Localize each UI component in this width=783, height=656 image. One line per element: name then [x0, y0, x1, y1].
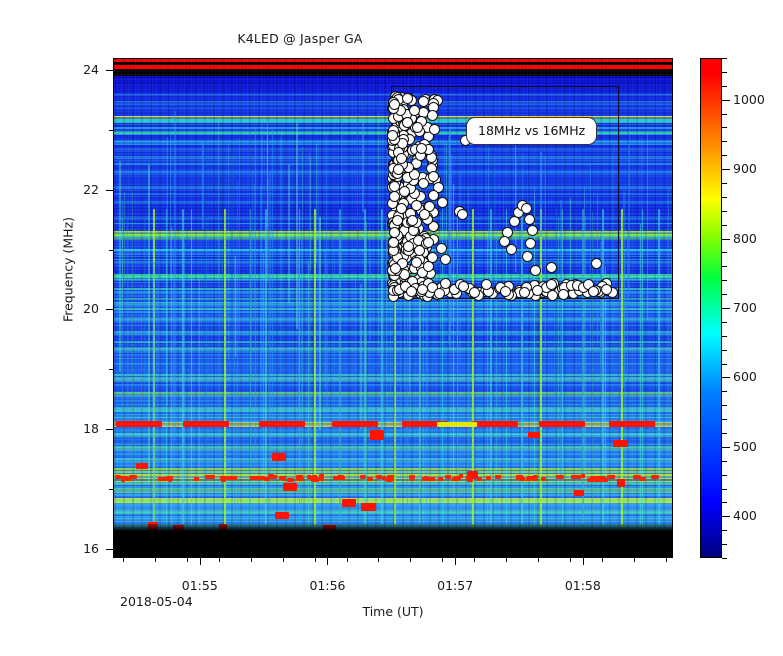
colorbar-tick-label: 900 [733, 161, 757, 176]
colorbar-minor-tick [722, 419, 727, 420]
x-axis-minor-tick [634, 558, 635, 562]
colorbar-minor-tick [722, 530, 727, 531]
signal-blob [454, 476, 461, 480]
signal-blob [607, 475, 615, 479]
signal-blob [129, 475, 137, 479]
x-axis-tick [327, 558, 328, 565]
colorbar-minor-tick [722, 100, 727, 101]
signal-blob [360, 475, 366, 479]
scatter-point [389, 181, 400, 192]
scatter-point [411, 257, 422, 268]
signal-blob [259, 421, 305, 427]
signal-blob [438, 477, 443, 481]
signal-blob [370, 430, 384, 439]
signal-blob [466, 476, 470, 480]
x-axis-minor-tick [187, 558, 188, 562]
signal-blob [166, 476, 174, 480]
signal-blob [486, 476, 491, 480]
signal-blob [528, 476, 533, 480]
x-axis-tick-label: 01:56 [292, 578, 362, 593]
y-axis-tick-label: 16 [65, 541, 99, 556]
scatter-point [428, 171, 439, 182]
colorbar-minor-tick [722, 336, 727, 337]
colorbar-minor-tick [722, 489, 727, 490]
signal-blob [588, 478, 593, 482]
scatter-point [419, 209, 430, 220]
scatter-point [506, 244, 517, 255]
signal-blob [576, 475, 581, 479]
y-axis-tick-label: 18 [65, 421, 99, 436]
scatter-point [532, 285, 543, 296]
signal-blob [495, 475, 501, 479]
scatter-point [524, 214, 535, 225]
signal-blob [409, 475, 415, 479]
signal-blob [296, 475, 304, 479]
y-axis-tick [106, 190, 113, 191]
signal-blob [339, 476, 345, 480]
signal-blob [283, 483, 297, 492]
scatter-point [393, 164, 404, 175]
colorbar-minor-tick [722, 405, 727, 406]
signal-blob [342, 499, 356, 507]
signal-blob [609, 421, 655, 427]
signal-blob [210, 475, 215, 479]
signal-blob [317, 477, 324, 481]
y-axis-tick [106, 429, 113, 430]
colorbar-minor-tick [722, 141, 727, 142]
signal-blob [520, 477, 525, 481]
x-axis-minor-tick [283, 558, 284, 562]
y-axis-tick [106, 309, 113, 310]
colorbar-minor-tick [722, 239, 727, 240]
y-axis-tick [106, 70, 113, 71]
colorbar-minor-tick [722, 114, 727, 115]
scatter-point [418, 178, 429, 189]
x-axis-tick [455, 558, 456, 565]
scatter-point [392, 215, 403, 226]
scatter-point [396, 203, 407, 214]
signal-blob [114, 65, 673, 69]
x-axis-minor-tick [378, 558, 379, 562]
colorbar-tick-label: 500 [733, 439, 757, 454]
y-axis-tick-label: 24 [65, 62, 99, 77]
colorbar-minor-tick [722, 72, 727, 73]
signal-blob [617, 479, 625, 487]
colorbar-tick-label: 800 [733, 231, 757, 246]
signal-blob [387, 475, 393, 479]
scatter-point [406, 286, 417, 297]
signal-blob [183, 421, 229, 427]
scatter-point [402, 93, 413, 104]
colorbar-minor-tick [722, 197, 727, 198]
lower-cutoff-band [114, 524, 672, 557]
colorbar-minor-tick [722, 225, 727, 226]
colorbar-minor-tick [722, 86, 727, 87]
scatter-point [546, 279, 557, 290]
signal-blob [437, 422, 477, 427]
x-axis-minor-tick [251, 558, 252, 562]
signal-blob [422, 477, 428, 481]
x-axis-minor-tick [442, 558, 443, 562]
y-axis-minor-tick [109, 369, 113, 370]
signal-blob [382, 476, 387, 480]
colorbar-tick-label: 400 [733, 508, 757, 523]
scatter-point [418, 96, 429, 107]
colorbar-tick-label: 1000 [733, 92, 765, 107]
colorbar-tick-label: 600 [733, 369, 757, 384]
colorbar-minor-tick [722, 391, 727, 392]
colorbar-minor-tick [722, 502, 727, 503]
signal-blob [264, 477, 270, 481]
signal-blob [116, 421, 162, 427]
colorbar-minor-tick [722, 447, 727, 448]
x-axis-minor-tick [602, 558, 603, 562]
x-axis-minor-tick [123, 558, 124, 562]
x-axis-minor-tick [219, 558, 220, 562]
scatter-point [437, 197, 448, 208]
scatter-point [440, 254, 451, 265]
signal-blob [539, 421, 585, 427]
scatter-point [388, 237, 399, 248]
signal-blob [361, 503, 376, 511]
scatter-point [457, 209, 468, 220]
colorbar-minor-tick [722, 461, 727, 462]
scatter-point [409, 105, 420, 116]
signal-blob [532, 476, 537, 480]
colorbar-minor-tick [722, 169, 727, 170]
page-title: K4LED @ Jasper GA [0, 31, 600, 46]
signal-blob [233, 476, 238, 480]
scatter-point [522, 251, 533, 262]
y-axis-minor-tick [109, 130, 113, 131]
colorbar-minor-tick [722, 294, 727, 295]
y-axis-tick-label: 22 [65, 182, 99, 197]
colorbar-minor-tick [722, 183, 727, 184]
colorbar-minor-tick [722, 364, 727, 365]
signal-blob [602, 478, 608, 482]
signal-blob [272, 453, 285, 461]
scatter-point [458, 281, 469, 292]
x-axis-minor-tick [570, 558, 571, 562]
signal-blob [556, 475, 564, 479]
signal-blob [194, 477, 198, 481]
colorbar-minor-tick [722, 322, 727, 323]
signal-blob [651, 475, 659, 479]
x-axis-minor-tick [474, 558, 475, 562]
signal-blob [309, 476, 316, 480]
scatter-point [427, 110, 438, 121]
scatter-point [481, 279, 492, 290]
x-axis-minor-tick [347, 558, 348, 562]
x-axis-tick-label: 01:57 [420, 578, 490, 593]
scatter-point [519, 287, 530, 298]
x-axis-minor-tick [155, 558, 156, 562]
colorbar-minor-tick [722, 266, 727, 267]
signal-blob [477, 477, 481, 481]
colorbar-minor-tick [722, 377, 727, 378]
scatter-point [414, 245, 425, 256]
signal-blob [136, 463, 147, 469]
signal-blob [121, 478, 125, 482]
scatter-point [521, 203, 532, 214]
x-axis-date: 2018-05-04 [120, 594, 193, 609]
colorbar-minor-tick [722, 155, 727, 156]
signal-blob [528, 432, 541, 439]
signal-blob [472, 421, 518, 427]
colorbar-minor-tick [722, 211, 727, 212]
colorbar-minor-tick [722, 350, 727, 351]
colorbar-minor-tick [722, 58, 727, 59]
signal-blob [376, 475, 382, 479]
signal-blob [287, 478, 294, 482]
signal-blob [332, 421, 378, 427]
scatter-point [558, 289, 569, 300]
colorbar-minor-tick [722, 516, 727, 517]
y-axis-label: Frequency (MHz) [61, 190, 76, 350]
colorbar-tick-label: 700 [733, 300, 757, 315]
signal-blob [275, 512, 290, 519]
colorbar-minor-tick [722, 544, 727, 545]
x-axis-minor-tick [538, 558, 539, 562]
signal-blob [633, 475, 641, 479]
signal-blob [427, 477, 435, 481]
colorbar-minor-tick [722, 475, 727, 476]
y-axis-minor-tick [109, 250, 113, 251]
x-axis-minor-tick [666, 558, 667, 562]
colorbar [700, 58, 722, 558]
signal-blob [613, 440, 628, 447]
scatter-point [389, 191, 400, 202]
signal-blob [541, 477, 546, 481]
scatter-point [601, 284, 612, 295]
y-axis-minor-tick [109, 489, 113, 490]
colorbar-minor-tick [722, 280, 727, 281]
x-axis-minor-tick [506, 558, 507, 562]
x-axis-minor-tick [410, 558, 411, 562]
y-axis-tick-label: 20 [65, 301, 99, 316]
scatter-point [525, 238, 536, 249]
colorbar-minor-tick [722, 127, 727, 128]
scatter-point [390, 263, 401, 274]
signal-blob [445, 475, 451, 479]
y-axis-tick [106, 549, 113, 550]
scatter-point [429, 124, 440, 135]
signal-blob [221, 478, 225, 482]
x-axis-minor-tick [315, 558, 316, 562]
plot-area: 18MHz vs 16MHz [113, 58, 673, 558]
x-axis-tick-label: 01:58 [548, 578, 618, 593]
scatter-point [412, 122, 423, 133]
colorbar-minor-tick [722, 308, 727, 309]
colorbar-gradient [700, 58, 722, 558]
x-axis-tick [200, 558, 201, 565]
x-axis-label: Time (UT) [313, 604, 473, 619]
x-axis-tick [583, 558, 584, 565]
annotation-label: 18MHz vs 16MHz [466, 117, 597, 145]
scatter-point [434, 288, 445, 299]
x-axis-tick-label: 01:55 [165, 578, 235, 593]
colorbar-minor-tick [722, 433, 727, 434]
spectrogram-figure: K4LED @ Jasper GA 18MHz vs 16MHz Frequen… [0, 0, 783, 656]
scatter-point [428, 190, 439, 201]
signal-blob [367, 477, 373, 481]
signal-blob [270, 475, 277, 479]
scatter-point [436, 243, 447, 254]
colorbar-minor-tick [722, 558, 727, 559]
colorbar-minor-tick [722, 252, 727, 253]
signal-blob [115, 475, 122, 479]
signal-blob [574, 490, 584, 496]
